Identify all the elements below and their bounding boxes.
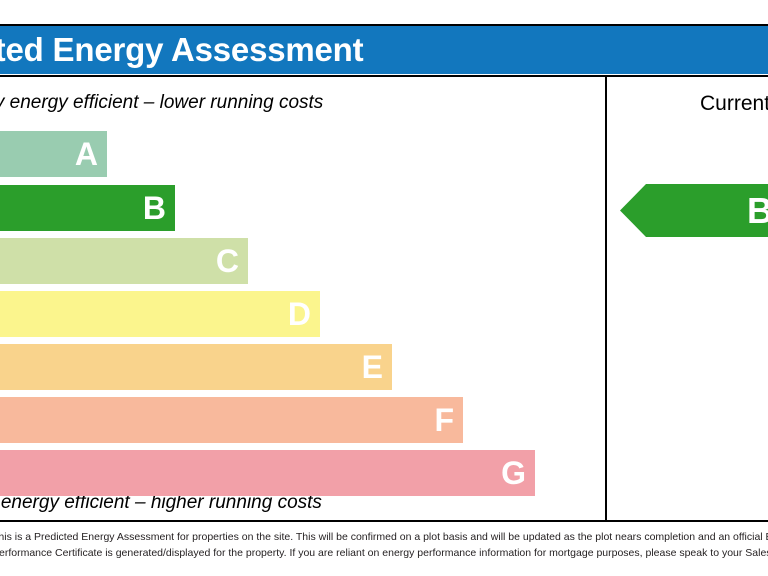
band-row-a: A [0,131,107,177]
band-bar-d: D [0,291,320,337]
footer-disclaimer: This is a Predicted Energy Assessment fo… [0,528,768,576]
band-row-f: F [0,397,463,443]
band-letter-c: C [216,245,239,277]
band-letter-f: F [434,404,454,436]
current-rating-heading: Current [700,92,768,116]
band-row-c: C [0,238,248,284]
band-letter-e: E [362,351,383,383]
footer-line-2: Performance Certificate is generated/dis… [0,548,768,559]
band-letter-d: D [288,298,311,330]
band-bar-f: F [0,397,463,443]
band-bar-e: E [0,344,392,390]
current-rating-value: B [747,193,768,229]
predicted-energy-assessment-chart: Predicted Energy Assessment Very energy … [0,0,768,576]
band-letter-a: A [75,138,98,170]
page-title: Predicted Energy Assessment [0,31,363,69]
band-bar-b: B [0,185,175,231]
scale-note-efficient: Very energy efficient – lower running co… [0,92,323,114]
band-row-b: B [0,185,175,231]
panel-divider [605,75,607,522]
band-row-g: G [0,450,535,496]
band-bar-g: G [0,450,535,496]
band-bar-c: C [0,238,248,284]
footer-line-1: This is a Predicted Energy Assessment fo… [0,532,768,543]
band-bar-a: A [0,131,107,177]
chart-header-band: Predicted Energy Assessment [0,26,768,74]
band-row-d: D [0,291,320,337]
current-rating-indicator: B [620,184,768,237]
current-rating-arrow [620,184,768,237]
band-letter-b: B [143,192,166,224]
band-row-e: E [0,344,392,390]
band-letter-g: G [501,457,526,489]
